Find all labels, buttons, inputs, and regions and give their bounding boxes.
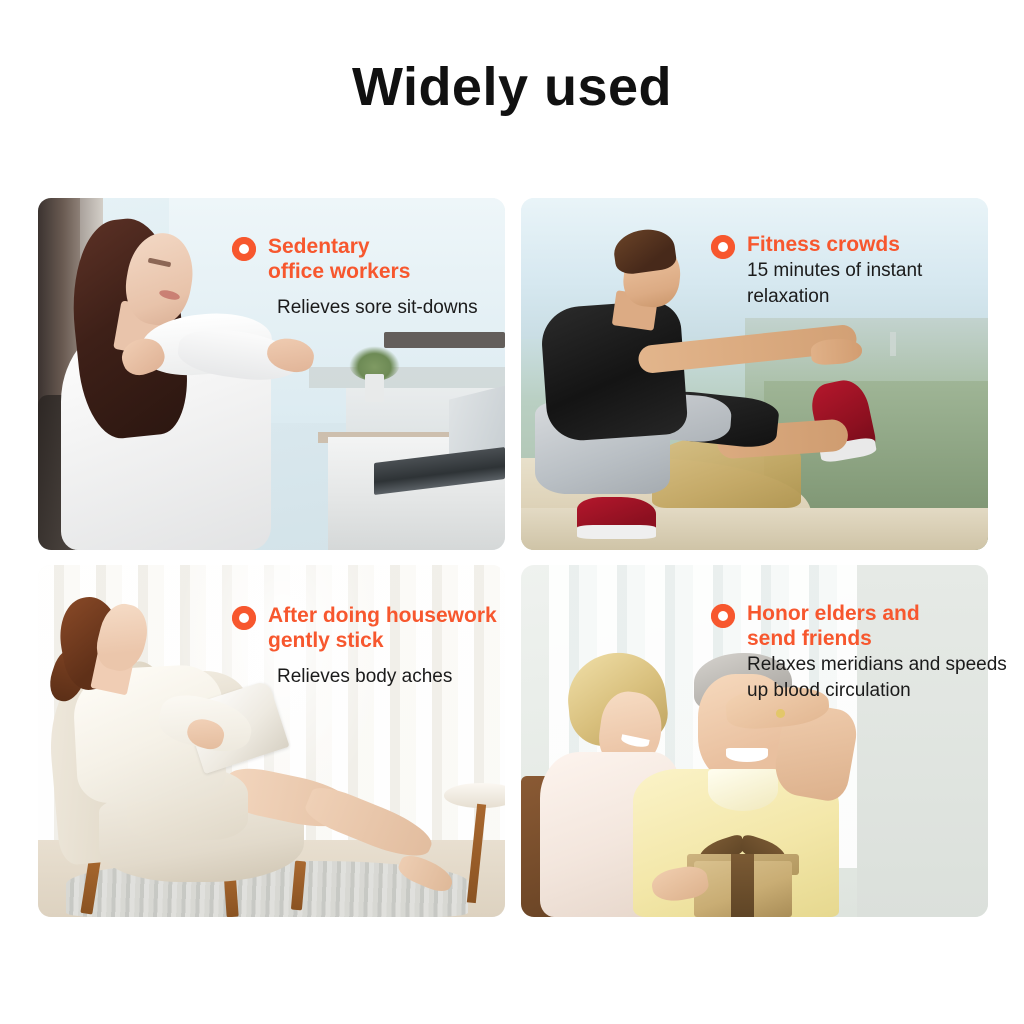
use-case-card-sedentary-office-workers[interactable]: Sedentary office workers Relieves sore s… [38, 198, 505, 550]
caption-fitness-crowds: Fitness crowds 15 minutes of instant rel… [711, 232, 922, 309]
card-heading-line2: gently stick [268, 628, 497, 653]
card-heading-line2: office workers [268, 259, 478, 284]
use-case-card-fitness-crowds[interactable]: Fitness crowds 15 minutes of instant rel… [521, 198, 988, 550]
card-subtitle-line2: up blood circulation [747, 679, 1007, 703]
card-subtitle-line1: Relieves body aches [277, 665, 497, 689]
card-heading-line1: Fitness crowds [747, 232, 922, 257]
orange-ring-icon [232, 606, 256, 630]
caption-after-housework: After doing housework gently stick Relie… [232, 603, 497, 689]
use-case-card-grid: Sedentary office workers Relieves sore s… [38, 198, 988, 916]
orange-ring-icon [232, 237, 256, 261]
caption-honor-elders: Honor elders and send friends Relaxes me… [711, 601, 1007, 703]
card-heading-line2: send friends [747, 626, 1007, 651]
card-subtitle-line2: relaxation [747, 285, 922, 309]
card-subtitle-line1: Relaxes meridians and speeds [747, 653, 1007, 677]
card-subtitle-line1: Relieves sore sit-downs [277, 296, 478, 320]
page-title: Widely used [0, 58, 1024, 117]
caption-sedentary-office-workers: Sedentary office workers Relieves sore s… [232, 234, 478, 320]
orange-ring-icon [711, 604, 735, 628]
card-heading-line1: Sedentary [268, 234, 478, 259]
use-case-card-after-housework[interactable]: After doing housework gently stick Relie… [38, 565, 505, 917]
card-heading-line1: Honor elders and [747, 601, 1007, 626]
orange-ring-icon [711, 235, 735, 259]
use-case-card-honor-elders[interactable]: Honor elders and send friends Relaxes me… [521, 565, 988, 917]
card-heading-line1: After doing housework [268, 603, 497, 628]
card-subtitle-line1: 15 minutes of instant [747, 259, 922, 283]
